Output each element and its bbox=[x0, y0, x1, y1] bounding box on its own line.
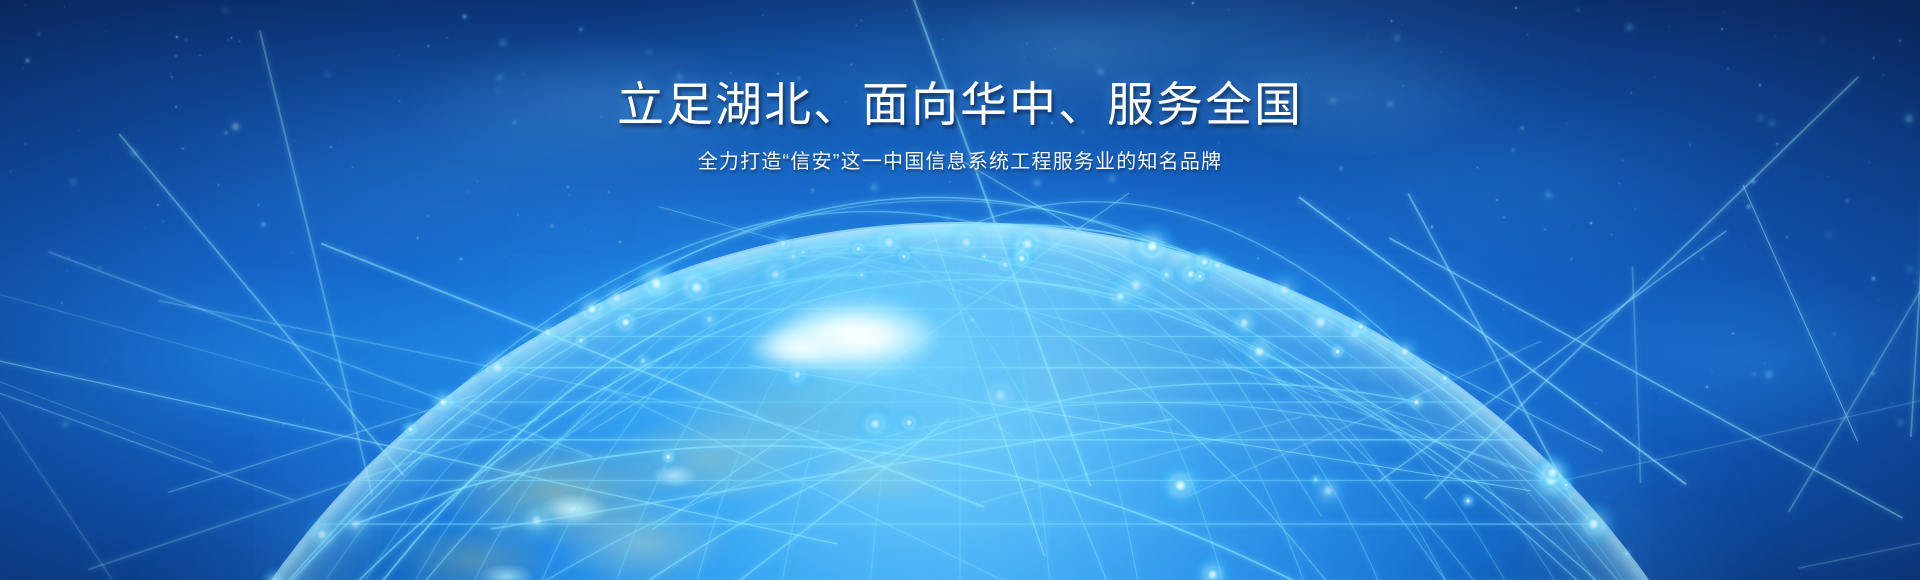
hero-banner: 立足湖北、面向华中、服务全国 全力打造“信安”这一中国信息系统工程服务业的知名品… bbox=[0, 0, 1920, 580]
network-connection-mesh bbox=[0, 0, 1920, 580]
